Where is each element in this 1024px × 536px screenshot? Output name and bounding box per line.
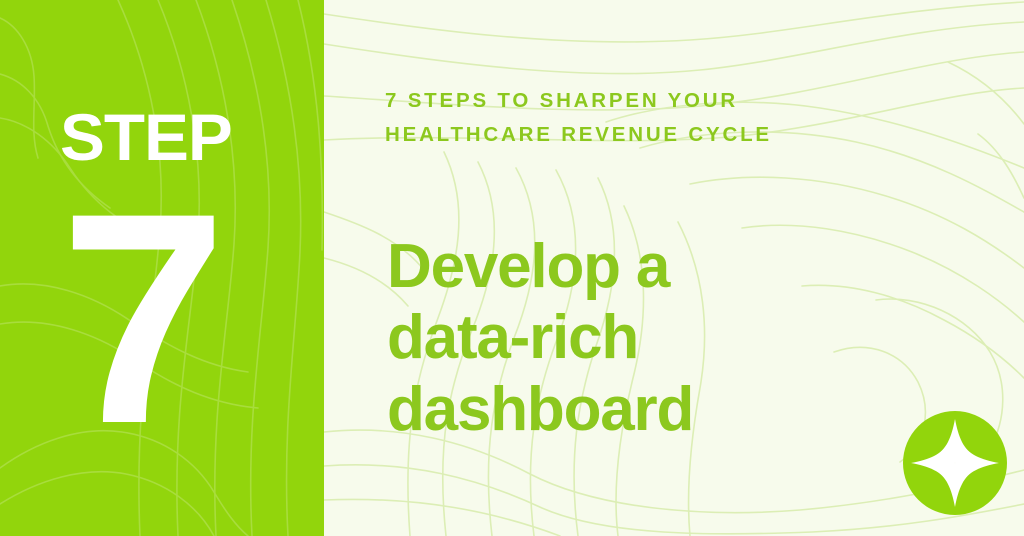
step-panel: STEP 7 (0, 0, 324, 536)
compass-star-icon (903, 411, 1007, 515)
headline-line-1: Develop a (387, 231, 693, 303)
eyebrow-series-title: 7 Steps to Sharpen Your Healthcare Reven… (385, 84, 985, 152)
step-banner: STEP 7 7 Steps to Sharpen Your Healthcar… (0, 0, 1024, 536)
eyebrow-line-2: Healthcare Revenue Cycle (385, 118, 985, 152)
page-title: Develop a data-rich dashboard (387, 231, 693, 447)
step-number: 7 (60, 168, 221, 468)
headline-line-2: data-rich (387, 302, 693, 374)
headline-line-3: dashboard (387, 374, 693, 446)
eyebrow-line-1: 7 Steps to Sharpen Your (385, 84, 985, 118)
